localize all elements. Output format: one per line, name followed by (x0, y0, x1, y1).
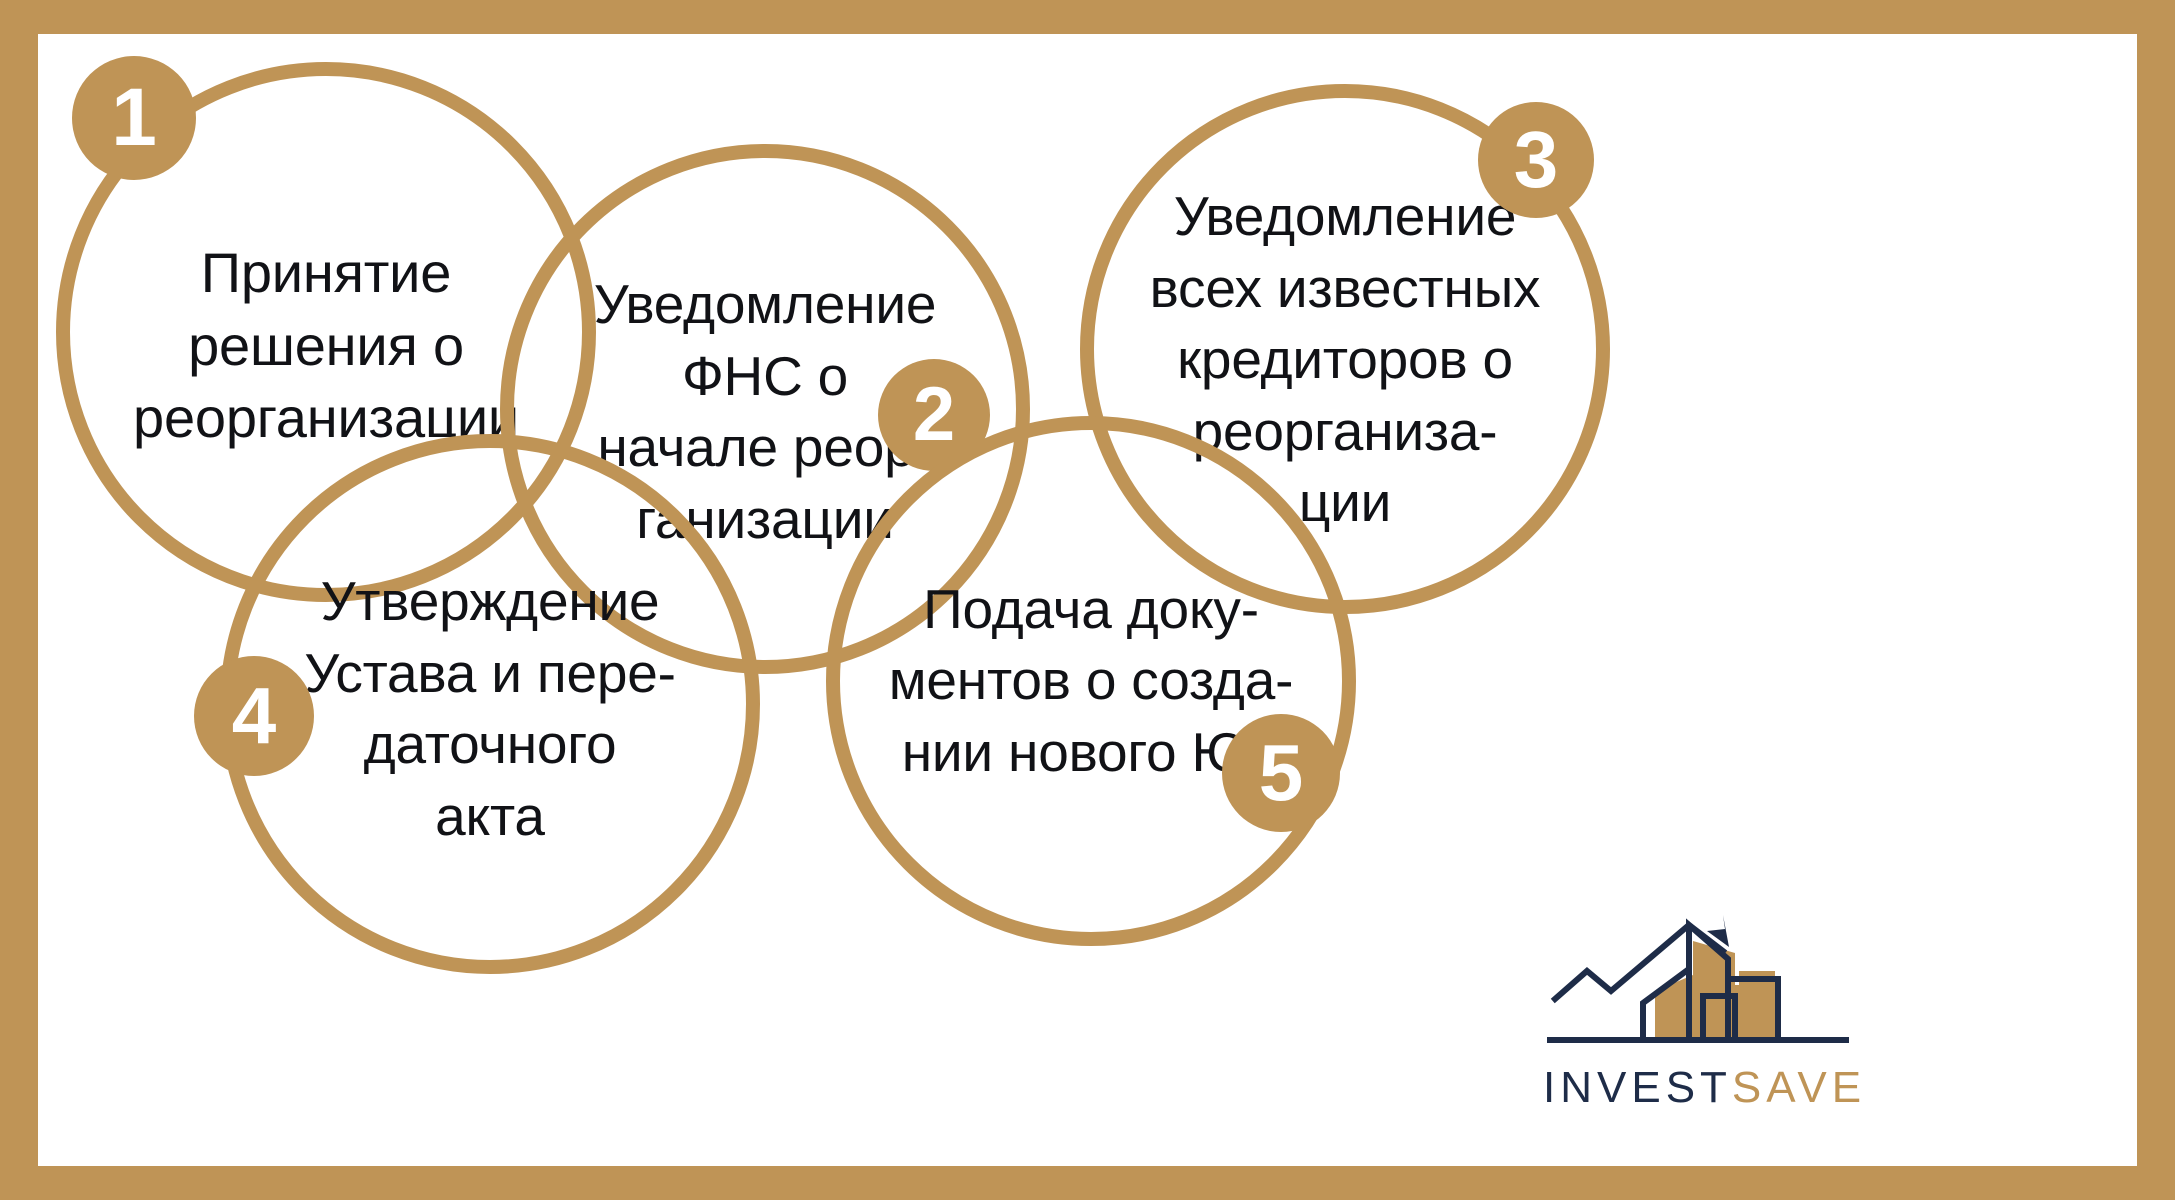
step-badge-1: 1 (72, 56, 196, 180)
brand-wordmark: INVESTSAVE (1543, 1063, 1853, 1113)
infographic-poster: Принятие решения о реорганизации 1 Уведо… (0, 0, 2175, 1200)
brand-word-save: SAVE (1732, 1063, 1866, 1112)
step-label-5: Подача доку- ментов о созда- нии нового … (826, 416, 1356, 946)
brand-logo[interactable]: INVESTSAVE (1543, 909, 1853, 1124)
step-badge-5: 5 (1222, 714, 1340, 832)
step-node-5[interactable]: Подача доку- ментов о созда- нии нового … (826, 416, 1356, 946)
step-badge-4: 4 (194, 656, 314, 776)
brand-word-invest: INVEST (1543, 1063, 1732, 1112)
infographic-canvas: Принятие решения о реорганизации 1 Уведо… (38, 34, 2137, 1166)
step-badge-3: 3 (1478, 102, 1594, 218)
step-node-4[interactable]: Утверждение Устава и пере- даточного акт… (220, 434, 760, 974)
building-growth-chart-icon (1543, 909, 1853, 1061)
